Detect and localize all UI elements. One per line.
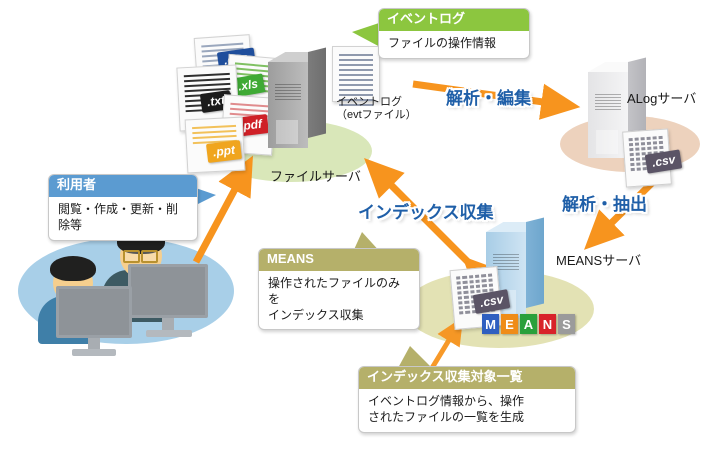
- event-log-callout-body: ファイルの操作情報: [379, 31, 529, 58]
- evt-label-line2: （evtファイル）: [336, 109, 417, 122]
- index-list-callout: インデックス収集対象一覧 イベントログ情報から、操作 されたファイルの一覧を生成: [358, 366, 576, 433]
- arrow-users-to-fileserver: [196, 163, 249, 262]
- means-logo-letter-a: A: [520, 314, 537, 334]
- means-callout-body: 操作されたファイルのみを インデックス収集: [259, 271, 419, 329]
- index-list-callout-body: イベントログ情報から、操作 されたファイルの一覧を生成: [359, 389, 575, 432]
- user-callout-header: 利用者: [49, 175, 197, 197]
- monitor-left: [56, 286, 138, 360]
- user-callout-body: 閲覧・作成・更新・削除等: [49, 197, 197, 240]
- means-callout-body-line2: インデックス収集: [268, 308, 410, 324]
- glasses-icon: [123, 250, 161, 262]
- event-log-callout-header: イベントログ: [379, 9, 529, 31]
- evt-label-line1: イベントログ: [336, 96, 417, 109]
- means-callout-header: MEANS: [259, 249, 419, 271]
- arrow-label-analysis-extract: 解析・抽出: [562, 190, 647, 215]
- server-vents: [595, 94, 621, 110]
- server-vents: [275, 84, 301, 100]
- index-list-callout-header: インデックス収集対象一覧: [359, 367, 575, 389]
- arrow-label-analysis-edit: 解析・編集: [446, 84, 531, 109]
- means-logo-letter-s: S: [558, 314, 575, 334]
- event-log-callout: イベントログ ファイルの操作情報: [378, 8, 530, 59]
- user-callout: 利用者 閲覧・作成・更新・削除等: [48, 174, 198, 241]
- event-log-file-label: イベントログ （evtファイル）: [336, 96, 417, 122]
- index-list-callout-tail: [398, 346, 432, 368]
- means-callout: MEANS 操作されたファイルのみを インデックス収集: [258, 248, 420, 330]
- event-log-document: [332, 46, 380, 102]
- means-server-label: MEANSサーバ: [556, 250, 641, 269]
- means-logo-letter-e: E: [501, 314, 518, 334]
- means-callout-body-line1: 操作されたファイルのみを: [268, 276, 410, 308]
- means-logo-letter-n: N: [539, 314, 556, 334]
- diagram-canvas: .doc .xls .txt .pdf .ppt: [0, 0, 714, 450]
- file-server-label: ファイルサーバ: [270, 166, 361, 185]
- index-list-body-line2: されたファイルの一覧を生成: [368, 410, 566, 426]
- monitor-right: [128, 264, 214, 342]
- index-list-body-line1: イベントログ情報から、操作: [368, 394, 566, 410]
- arrow-label-index-collection: インデックス収集: [358, 198, 494, 223]
- alog-server-label: ALogサーバ: [627, 88, 696, 107]
- means-logo: M E A N S: [482, 314, 575, 334]
- means-logo-letter-m: M: [482, 314, 499, 334]
